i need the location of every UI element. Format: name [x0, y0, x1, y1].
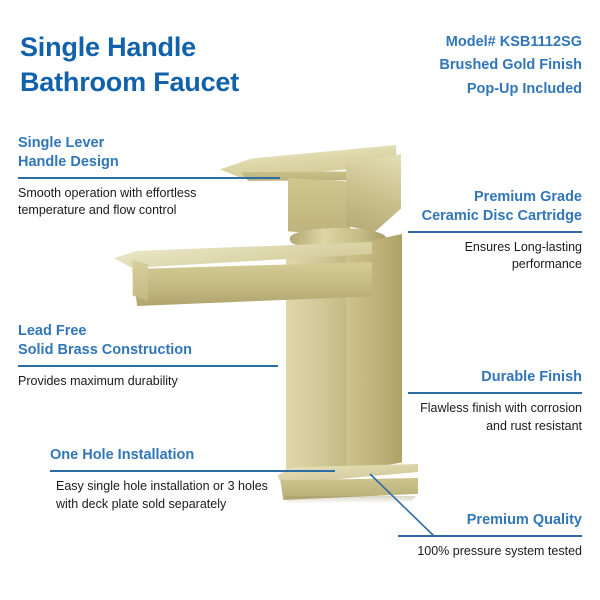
- callout-heading: One Hole Installation: [50, 446, 335, 465]
- callout-heading-line-2: Ceramic Disc Cartridge: [408, 207, 582, 226]
- product-infographic: Single Handle Bathroom Faucet Model# KSB…: [0, 0, 600, 600]
- callout-rule: [398, 535, 582, 537]
- callout-premium-quality: Premium Quality 100% pressure system tes…: [398, 511, 582, 561]
- callout-heading-line-1: Durable Finish: [408, 368, 582, 387]
- page-title-line-1: Single Handle: [20, 30, 350, 65]
- callout-body: Provides maximum durability: [18, 373, 278, 391]
- callout-body-line-2: performance: [408, 256, 582, 274]
- callout-heading: Premium Quality: [398, 511, 582, 530]
- callout-heading-line-1: One Hole Installation: [50, 446, 335, 465]
- callout-heading: Single Lever Handle Design: [18, 134, 280, 172]
- callout-body-line-1: Ensures Long-lasting: [408, 239, 582, 257]
- callout-premium-grade-ceramic-disc-cartridge: Premium Grade Ceramic Disc Cartridge Ens…: [408, 188, 582, 274]
- callout-heading-line-1: Lead Free: [18, 322, 278, 341]
- model-info: Model# KSB1112SG Brushed Gold Finish Pop…: [332, 31, 582, 101]
- callout-body-line-2: and rust resistant: [408, 418, 582, 436]
- callout-one-hole-installation: One Hole Installation Easy single hole i…: [50, 446, 335, 513]
- finish-label: Brushed Gold Finish: [332, 54, 582, 77]
- callout-body-line-2: with deck plate sold separately: [56, 496, 335, 514]
- callout-body: Easy single hole installation or 3 holes…: [50, 478, 335, 514]
- callout-heading-line-1: Premium Grade: [408, 188, 582, 207]
- popup-included-label: Pop-Up Included: [332, 78, 582, 101]
- callout-rule: [50, 470, 335, 472]
- callout-body: Ensures Long-lasting performance: [408, 239, 582, 275]
- callout-single-lever-handle-design: Single Lever Handle Design Smooth operat…: [18, 134, 280, 220]
- handle-block-right: [346, 154, 401, 232]
- callout-rule: [408, 231, 582, 233]
- callout-durable-finish: Durable Finish Flawless finish with corr…: [408, 368, 582, 435]
- callout-heading-line-1: Single Lever: [18, 134, 280, 153]
- callout-rule: [408, 392, 582, 394]
- callout-rule: [18, 177, 280, 179]
- callout-heading-line-2: Solid Brass Construction: [18, 341, 278, 360]
- page-title-line-2: Bathroom Faucet: [20, 65, 350, 100]
- callout-lead-free-solid-brass-construction: Lead Free Solid Brass Construction Provi…: [18, 322, 278, 390]
- callout-heading-line-2: Handle Design: [18, 153, 280, 172]
- callout-rule: [18, 365, 278, 367]
- callout-body: Flawless finish with corrosion and rust …: [408, 400, 582, 436]
- callout-body-line-1: Smooth operation with effortless: [18, 185, 274, 203]
- callout-heading: Durable Finish: [408, 368, 582, 387]
- page-title: Single Handle Bathroom Faucet: [20, 30, 350, 99]
- callout-heading: Premium Grade Ceramic Disc Cartridge: [408, 188, 582, 226]
- callout-body: 100% pressure system tested: [398, 543, 582, 561]
- callout-body-line-1: Flawless finish with corrosion: [408, 400, 582, 418]
- callout-body: Smooth operation with effortless tempera…: [18, 185, 280, 221]
- callout-body-line-1: 100% pressure system tested: [398, 543, 582, 561]
- callout-heading: Lead Free Solid Brass Construction: [18, 322, 278, 360]
- callout-body-line-1: Provides maximum durability: [18, 373, 278, 391]
- callout-body-line-2: temperature and flow control: [18, 202, 274, 220]
- callout-body-line-1: Easy single hole installation or 3 holes: [56, 478, 335, 496]
- callout-heading-line-1: Premium Quality: [398, 511, 582, 530]
- model-number: Model# KSB1112SG: [332, 31, 582, 54]
